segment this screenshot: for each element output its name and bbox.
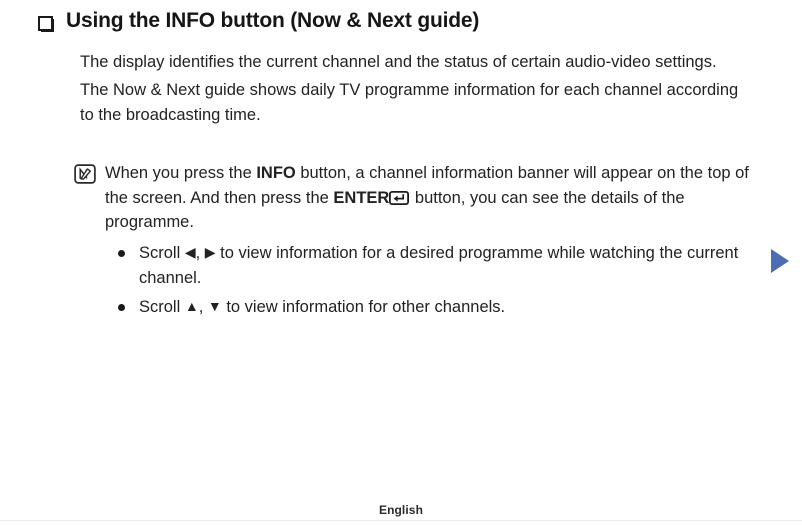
note-text: When you press the INFO button, a channe…	[105, 161, 764, 235]
manual-page: Using the INFO button (Now & Next guide)…	[0, 0, 802, 525]
enter-return-key-icon	[389, 191, 409, 205]
page-title: Using the INFO button (Now & Next guide)	[66, 8, 479, 34]
paragraph-1: The display identifies the current chann…	[80, 50, 752, 75]
note-block: When you press the INFO button, a channe…	[74, 161, 764, 235]
next-page-arrow-icon[interactable]	[769, 248, 791, 274]
footer-language-label: English	[379, 503, 423, 517]
note-pencil-icon	[74, 164, 96, 184]
bullet-dot-icon	[118, 304, 125, 311]
paragraph-2: The Now & Next guide shows daily TV prog…	[80, 78, 752, 128]
bullet-dot-icon	[118, 250, 125, 257]
list-item-text-2: Scroll ▲, ▼ to view information for othe…	[139, 295, 758, 320]
list-item: Scroll ▲, ▼ to view information for othe…	[118, 295, 758, 320]
page-footer: English	[0, 501, 802, 519]
bullet-list: Scroll ◀, ▶ to view information for a de…	[118, 241, 758, 325]
list-item: Scroll ◀, ▶ to view information for a de…	[118, 241, 758, 290]
list-item-text-1: Scroll ◀, ▶ to view information for a de…	[139, 241, 758, 290]
square-bullet-icon	[38, 16, 54, 32]
section-heading: Using the INFO button (Now & Next guide)	[38, 8, 762, 34]
body-text-block: The display identifies the current chann…	[80, 50, 752, 129]
page-bottom-rule	[0, 520, 802, 521]
